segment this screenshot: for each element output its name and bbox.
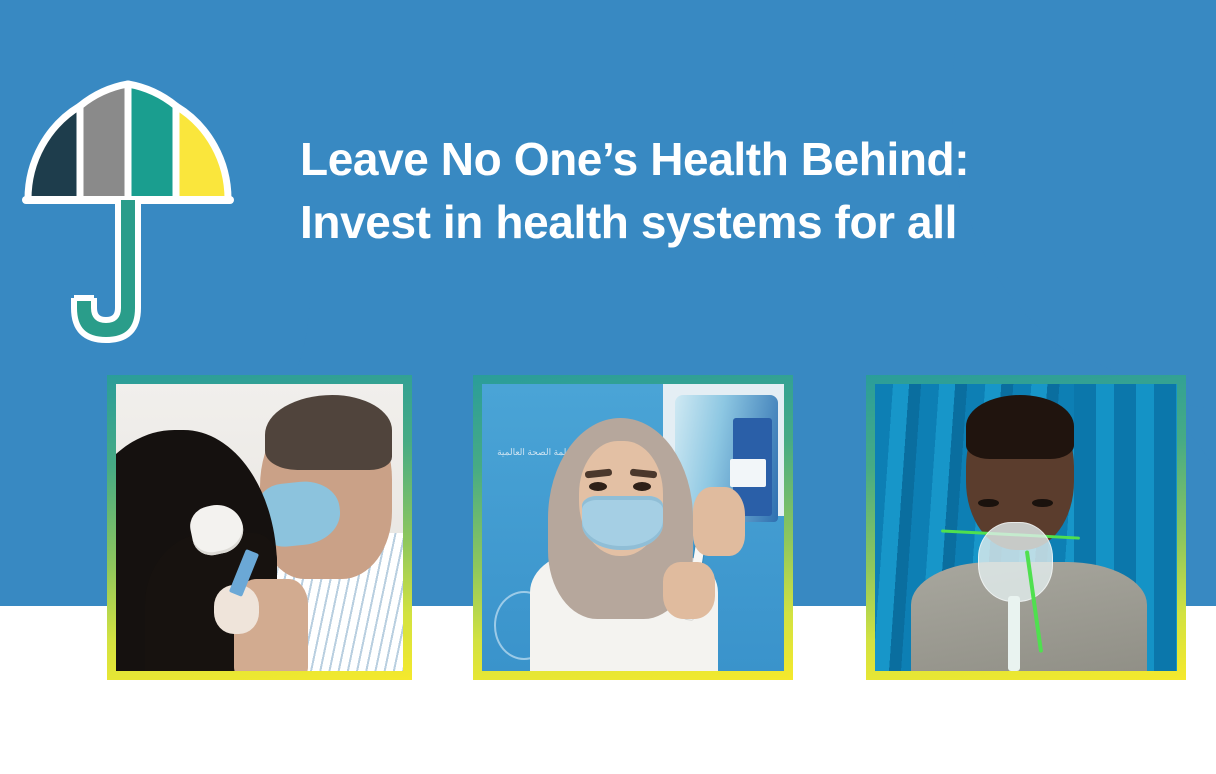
photo2-eye-right	[633, 482, 651, 491]
photo2-upper-hand	[693, 487, 744, 556]
photo-card-who-health-worker: منظمة الصحة العالمية World Organ	[473, 375, 793, 680]
page-title: Leave No One’s Health Behind: Invest in …	[300, 128, 1080, 255]
photo-vaccination	[116, 384, 403, 671]
photo-card-oxygen-patient	[866, 375, 1186, 680]
photo-card-vaccination	[107, 375, 412, 680]
photo1-patient-hair	[265, 395, 391, 470]
photo3-oxygen-tube	[1008, 596, 1020, 671]
photo2-bottle-label	[730, 459, 766, 488]
who-health-banner: Leave No One’s Health Behind: Invest in …	[0, 0, 1216, 774]
photo2-eye-left	[589, 482, 607, 491]
photo-oxygen-patient	[875, 384, 1177, 671]
umbrella-icon	[18, 72, 248, 344]
photo2-lower-hand	[663, 562, 714, 619]
photo-who-health-worker: منظمة الصحة العالمية World Organ	[482, 384, 784, 671]
photo3-oxygen-mask	[978, 522, 1054, 602]
photo2-surgical-mask	[582, 496, 664, 551]
photo3-patient-hair	[966, 395, 1075, 458]
